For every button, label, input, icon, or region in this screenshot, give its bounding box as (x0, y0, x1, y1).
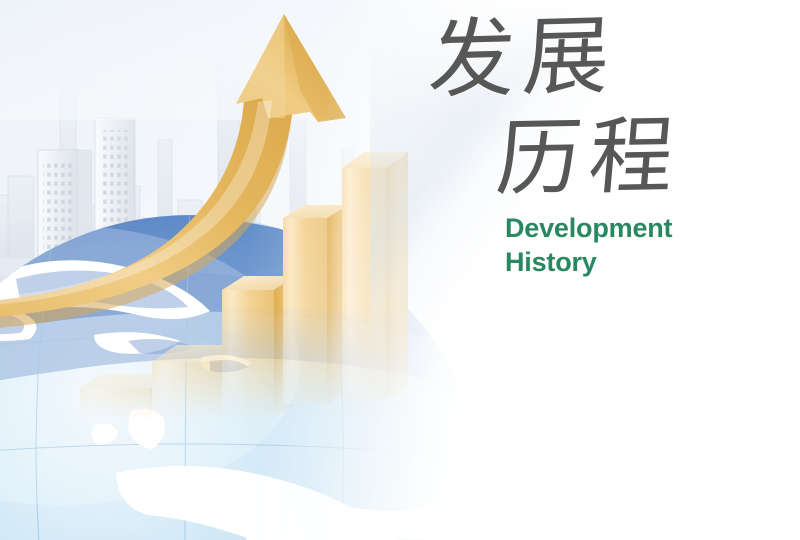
title-en-line-1: Development (505, 212, 672, 246)
title-en-block: Development History (505, 212, 672, 280)
title-en-line-2: History (505, 246, 672, 280)
title-cjk-line-2: 历程 (421, 112, 759, 202)
title-cjk-line-1: 发展 (422, 9, 758, 104)
title-block: 发展 历程 (425, 18, 755, 202)
development-history-banner: 发展 历程 Development History (0, 0, 800, 540)
